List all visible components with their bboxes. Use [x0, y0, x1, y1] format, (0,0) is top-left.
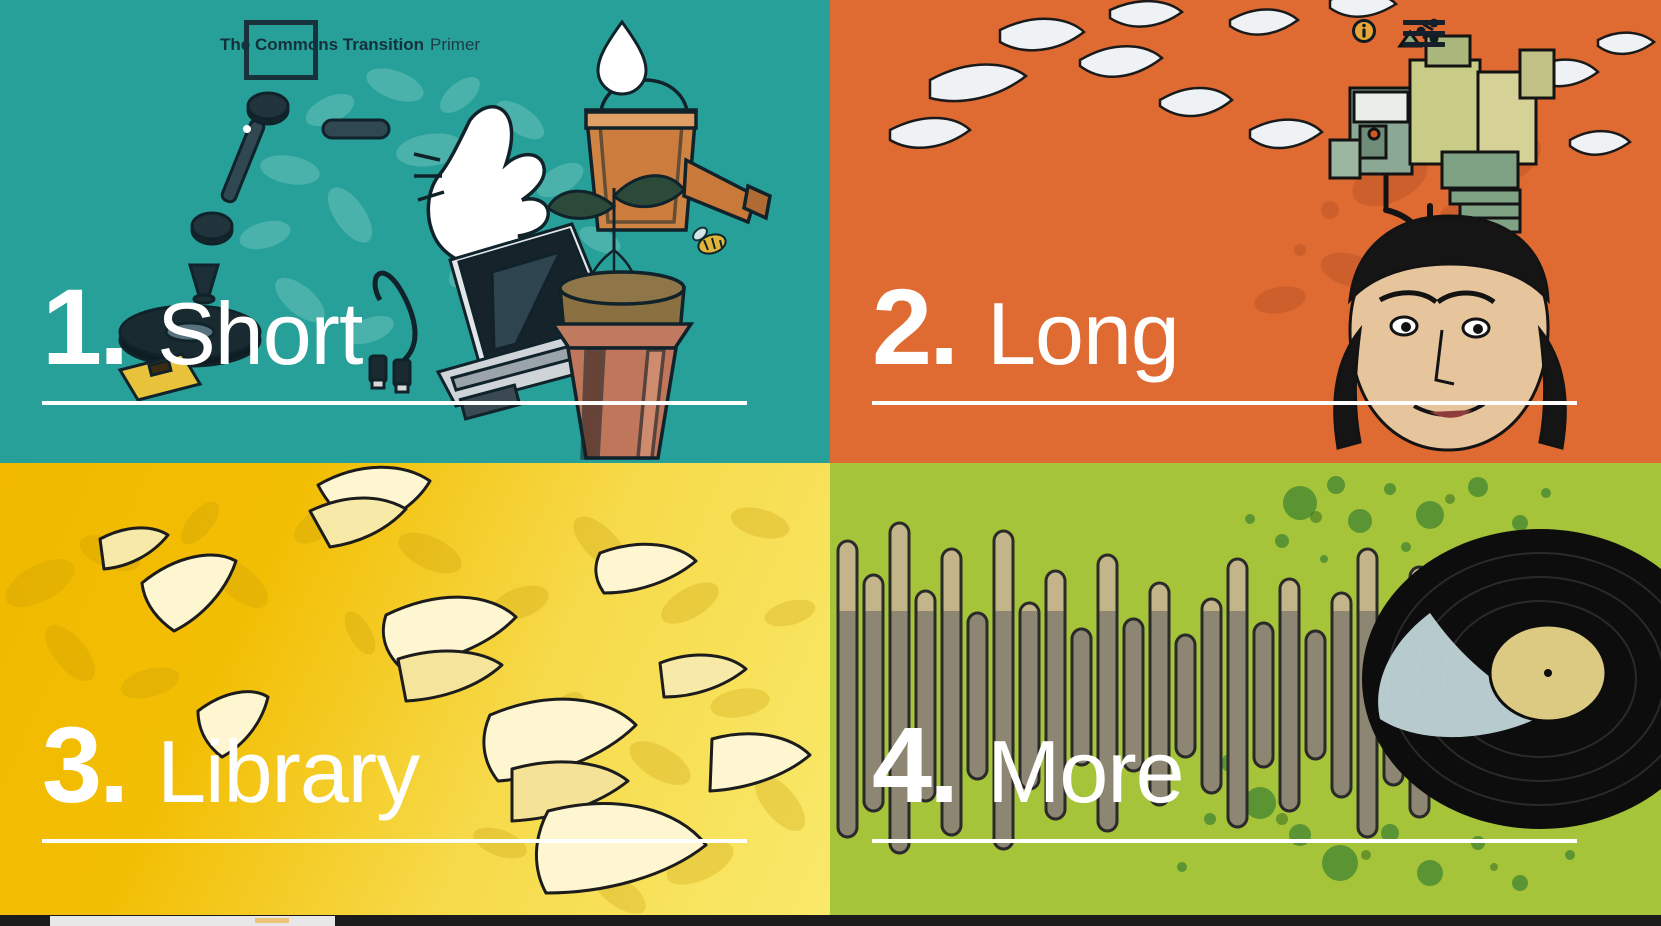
tile-library-rule — [42, 839, 747, 843]
tile-long[interactable]: 2 . Long — [830, 0, 1661, 463]
tile-long-caption: 2 . Long — [872, 276, 1619, 405]
tile-short-label: Short — [157, 290, 362, 378]
tile-more-dot: . — [929, 714, 959, 817]
tile-short-number: 1 — [42, 276, 99, 379]
tile-grid: 1 . Short — [0, 0, 1661, 915]
brand-text: The Commons Transition Primer — [220, 35, 480, 55]
brand-name-strong: The Commons Transition — [220, 35, 424, 55]
brand-logo[interactable]: The Commons Transition Primer — [220, 14, 480, 76]
tile-more-label: More — [987, 728, 1184, 816]
tile-short-caption: 1 . Short — [42, 276, 788, 405]
tile-long-rule — [872, 401, 1577, 405]
brand-name-light: Primer — [430, 35, 480, 55]
menu-line-1 — [1403, 20, 1445, 25]
tile-long-dot: . — [929, 276, 959, 379]
tile-short-rule — [42, 401, 747, 405]
tile-long-number: 2 — [872, 276, 929, 379]
tile-library[interactable]: 3 . Library — [0, 463, 830, 915]
tile-more-number: 4 — [872, 714, 929, 817]
tile-library-number: 3 — [42, 714, 99, 817]
scrollbar-thumb-highlight — [255, 918, 289, 923]
menu-line-3 — [1403, 42, 1445, 47]
info-icon[interactable] — [1349, 16, 1379, 46]
illustration-library — [0, 463, 830, 915]
tile-more-caption: 4 . More — [872, 714, 1619, 843]
tile-library-caption: 3 . Library — [42, 714, 788, 843]
tile-short-dot: . — [99, 276, 129, 379]
tile-library-label: Library — [157, 728, 419, 816]
horizontal-scrollbar[interactable] — [0, 915, 1661, 926]
tile-library-dot: . — [99, 714, 129, 817]
page-root: 1 . Short — [0, 0, 1661, 926]
tile-more[interactable]: 4 . More — [830, 463, 1661, 915]
tile-long-label: Long — [987, 290, 1179, 378]
menu-line-2 — [1403, 31, 1445, 36]
menu-icon[interactable] — [1403, 18, 1445, 48]
tile-more-rule — [872, 839, 1577, 843]
scrollbar-thumb[interactable] — [50, 916, 335, 926]
illustration-more — [830, 463, 1661, 915]
